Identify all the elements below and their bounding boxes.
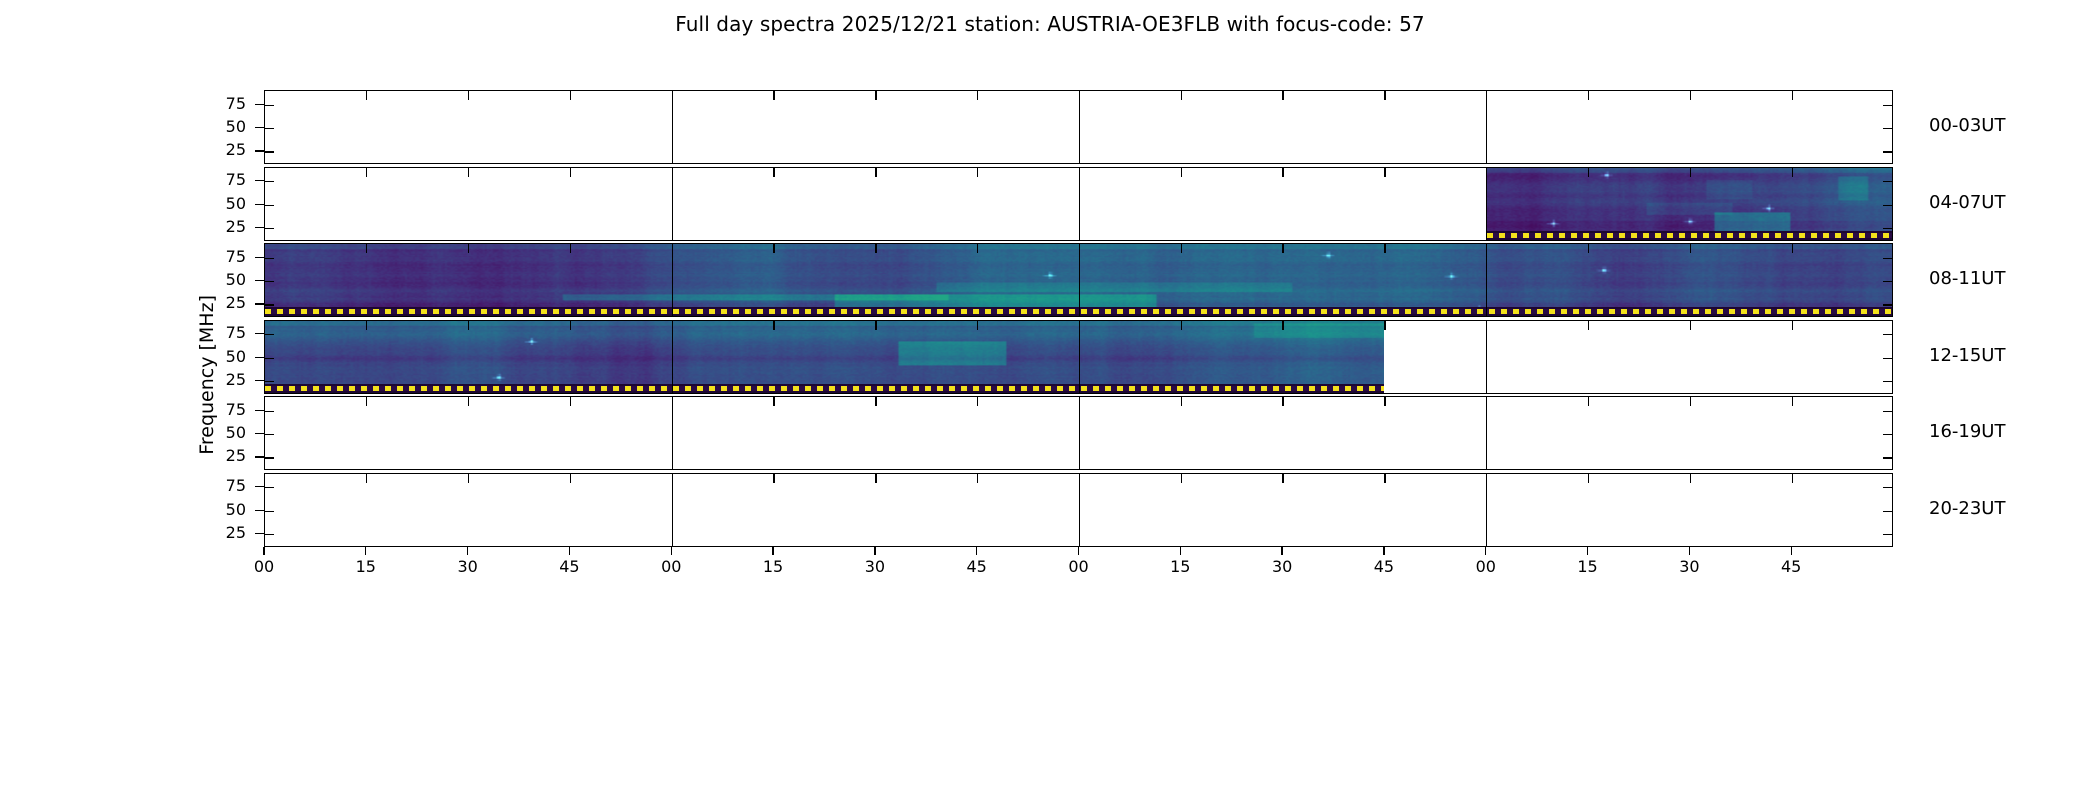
hour-gridline	[1486, 91, 1487, 163]
x-tick-bottom	[1384, 321, 1385, 330]
x-tick-mark	[467, 547, 468, 555]
x-tick-bottom	[1181, 474, 1182, 483]
y-tick-mark	[255, 533, 264, 534]
x-tick-bottom	[366, 474, 367, 483]
marker-band	[1487, 231, 1893, 240]
y-tick-left	[265, 151, 274, 152]
x-tick-label: 15	[1160, 557, 1200, 576]
x-tick-bottom	[366, 244, 367, 253]
y-tick-label: 75	[202, 323, 246, 342]
y-tick-label: 25	[202, 140, 246, 159]
hour-gridline	[1079, 244, 1080, 316]
x-tick-bottom	[1181, 168, 1182, 177]
x-tick-bottom	[1384, 244, 1385, 253]
hour-gridline	[672, 91, 673, 163]
x-tick-bottom	[977, 321, 978, 330]
hour-gridline	[672, 474, 673, 546]
x-tick-bottom	[1792, 321, 1793, 330]
x-tick-bottom	[1282, 321, 1283, 330]
x-tick-label: 00	[651, 557, 691, 576]
spectrogram-panel-16-19ut[interactable]	[264, 396, 1893, 470]
x-tick-bottom	[1690, 397, 1691, 406]
x-tick-bottom	[1588, 168, 1589, 177]
x-tick-bottom	[1690, 244, 1691, 253]
x-tick-bottom	[977, 397, 978, 406]
y-tick-mark	[255, 127, 264, 128]
y-tick-left	[265, 334, 274, 335]
x-tick-label: 45	[549, 557, 589, 576]
x-tick-bottom	[366, 397, 367, 406]
x-tick-mark	[263, 547, 264, 555]
x-tick-bottom	[1792, 397, 1793, 406]
x-tick-label: 30	[1669, 557, 1709, 576]
y-tick-right	[1883, 181, 1892, 182]
y-tick-label: 50	[202, 194, 246, 213]
y-tick-mark	[255, 257, 264, 258]
x-tick-bottom	[468, 397, 469, 406]
y-tick-left	[265, 228, 274, 229]
x-tick-bottom	[1792, 91, 1793, 100]
hour-gridline	[1486, 168, 1487, 240]
y-tick-label: 50	[202, 423, 246, 442]
x-tick-bottom	[468, 474, 469, 483]
y-tick-left	[265, 181, 274, 182]
y-tick-left	[265, 258, 274, 259]
x-tick-bottom	[1690, 474, 1691, 483]
x-tick-bottom	[366, 168, 367, 177]
y-tick-right	[1883, 511, 1892, 512]
x-tick-label: 15	[753, 557, 793, 576]
x-tick-bottom	[570, 397, 571, 406]
y-tick-mark	[255, 204, 264, 205]
x-tick-bottom	[875, 474, 876, 483]
y-tick-mark	[255, 333, 264, 334]
x-tick-bottom	[366, 91, 367, 100]
y-tick-left	[265, 381, 274, 382]
y-tick-right	[1883, 205, 1892, 206]
y-tick-mark	[255, 380, 264, 381]
x-tick-bottom	[1181, 244, 1182, 253]
y-tick-right	[1883, 457, 1892, 458]
x-tick-label: 45	[1364, 557, 1404, 576]
y-tick-label: 50	[202, 117, 246, 136]
y-tick-left	[265, 457, 274, 458]
y-tick-label: 75	[202, 94, 246, 113]
x-tick-mark	[874, 547, 875, 555]
y-tick-left	[265, 534, 274, 535]
y-tick-mark	[255, 180, 264, 181]
x-tick-bottom	[773, 168, 774, 177]
x-tick-bottom	[773, 397, 774, 406]
y-tick-left	[265, 487, 274, 488]
hour-gridline	[1079, 397, 1080, 469]
y-tick-label: 75	[202, 170, 246, 189]
x-tick-bottom	[1181, 91, 1182, 100]
x-tick-bottom	[1792, 168, 1793, 177]
x-tick-label: 00	[1059, 557, 1099, 576]
y-tick-label: 75	[202, 476, 246, 495]
y-tick-right	[1883, 534, 1892, 535]
x-tick-bottom	[1282, 244, 1283, 253]
y-tick-label: 25	[202, 217, 246, 236]
row-label-00-03ut: 00-03UT	[1929, 115, 2005, 136]
x-tick-label: 30	[855, 557, 895, 576]
hour-gridline	[1486, 244, 1487, 316]
x-tick-bottom	[1282, 168, 1283, 177]
y-tick-left	[265, 358, 274, 359]
y-tick-mark	[255, 410, 264, 411]
y-tick-right	[1883, 258, 1892, 259]
x-tick-bottom	[875, 91, 876, 100]
x-tick-bottom	[773, 321, 774, 330]
x-tick-label: 15	[346, 557, 386, 576]
x-tick-bottom	[468, 244, 469, 253]
figure-canvas: Full day spectra 2025/12/21 station: AUS…	[0, 0, 2100, 800]
x-tick-bottom	[570, 168, 571, 177]
y-tick-left	[265, 411, 274, 412]
hour-gridline	[1486, 321, 1487, 393]
y-tick-left	[265, 205, 274, 206]
hour-gridline	[1486, 397, 1487, 469]
x-tick-bottom	[773, 474, 774, 483]
x-tick-bottom	[1690, 321, 1691, 330]
x-tick-bottom	[1690, 91, 1691, 100]
y-tick-left	[265, 304, 274, 305]
y-tick-right	[1883, 228, 1892, 229]
spectrogram-data	[1487, 168, 1893, 240]
row-label-12-15ut: 12-15UT	[1929, 345, 2005, 366]
spectrogram-panel-04-07ut[interactable]	[264, 167, 1893, 241]
x-tick-mark	[1180, 547, 1181, 555]
y-tick-mark	[255, 150, 264, 151]
y-tick-label: 75	[202, 247, 246, 266]
y-tick-left	[265, 105, 274, 106]
y-tick-mark	[255, 433, 264, 434]
hour-gridline	[1486, 474, 1487, 546]
x-tick-mark	[1689, 547, 1690, 555]
x-tick-mark	[976, 547, 977, 555]
y-tick-mark	[255, 486, 264, 487]
y-tick-mark	[255, 104, 264, 105]
x-tick-bottom	[468, 168, 469, 177]
x-tick-label: 15	[1568, 557, 1608, 576]
x-tick-bottom	[773, 91, 774, 100]
x-tick-bottom	[1384, 168, 1385, 177]
y-tick-label: 50	[202, 347, 246, 366]
row-label-08-11ut: 08-11UT	[1929, 268, 2005, 289]
hour-gridline	[1079, 168, 1080, 240]
x-tick-bottom	[1588, 474, 1589, 483]
y-tick-label: 25	[202, 523, 246, 542]
x-tick-bottom	[1384, 397, 1385, 406]
x-tick-mark	[1281, 547, 1282, 555]
y-tick-label: 50	[202, 500, 246, 519]
x-tick-label: 45	[1771, 557, 1811, 576]
spectrogram-canvas	[1487, 168, 1893, 240]
y-tick-mark	[255, 456, 264, 457]
y-tick-right	[1883, 381, 1892, 382]
x-tick-label: 45	[957, 557, 997, 576]
y-tick-right	[1883, 128, 1892, 129]
x-tick-bottom	[366, 321, 367, 330]
x-tick-bottom	[1690, 168, 1691, 177]
spectrogram-panel-20-23ut[interactable]	[264, 473, 1893, 547]
y-tick-mark	[255, 357, 264, 358]
x-tick-bottom	[1282, 397, 1283, 406]
x-tick-mark	[569, 547, 570, 555]
x-tick-bottom	[570, 91, 571, 100]
x-tick-bottom	[977, 474, 978, 483]
y-tick-left	[265, 511, 274, 512]
y-tick-left	[265, 281, 274, 282]
y-tick-label: 25	[202, 446, 246, 465]
y-tick-left	[265, 128, 274, 129]
x-tick-bottom	[1282, 91, 1283, 100]
y-tick-right	[1883, 334, 1892, 335]
hour-gridline	[672, 397, 673, 469]
x-tick-bottom	[977, 91, 978, 100]
x-tick-bottom	[1792, 244, 1793, 253]
y-tick-label: 25	[202, 293, 246, 312]
y-tick-label: 25	[202, 370, 246, 389]
x-tick-bottom	[875, 168, 876, 177]
y-tick-mark	[255, 303, 264, 304]
hour-gridline	[672, 168, 673, 240]
x-tick-bottom	[977, 168, 978, 177]
y-tick-mark	[255, 510, 264, 511]
x-tick-bottom	[570, 474, 571, 483]
x-tick-bottom	[468, 321, 469, 330]
x-tick-mark	[1791, 547, 1792, 555]
spectrogram-panel-08-11ut[interactable]	[264, 243, 1893, 317]
y-tick-right	[1883, 304, 1892, 305]
x-tick-bottom	[1282, 474, 1283, 483]
x-tick-mark	[1383, 547, 1384, 555]
marker-band	[265, 384, 1384, 393]
x-tick-mark	[772, 547, 773, 555]
y-tick-right	[1883, 151, 1892, 152]
x-tick-mark	[1587, 547, 1588, 555]
hour-gridline	[672, 321, 673, 393]
x-tick-bottom	[1588, 91, 1589, 100]
spectrogram-canvas	[265, 321, 1384, 393]
x-tick-label: 30	[1262, 557, 1302, 576]
x-tick-label: 30	[448, 557, 488, 576]
x-tick-bottom	[1181, 397, 1182, 406]
x-tick-label: 00	[1466, 557, 1506, 576]
x-tick-bottom	[875, 397, 876, 406]
x-tick-bottom	[875, 321, 876, 330]
hour-gridline	[672, 244, 673, 316]
x-tick-bottom	[977, 244, 978, 253]
x-tick-bottom	[468, 91, 469, 100]
x-tick-bottom	[1588, 321, 1589, 330]
x-tick-bottom	[1384, 474, 1385, 483]
x-tick-bottom	[1588, 397, 1589, 406]
y-tick-right	[1883, 434, 1892, 435]
hour-gridline	[1079, 474, 1080, 546]
x-tick-bottom	[1384, 91, 1385, 100]
y-tick-mark	[255, 227, 264, 228]
y-tick-right	[1883, 105, 1892, 106]
row-label-04-07ut: 04-07UT	[1929, 192, 2005, 213]
x-tick-bottom	[570, 321, 571, 330]
y-tick-right	[1883, 281, 1892, 282]
spectrogram-panel-00-03ut[interactable]	[264, 90, 1893, 164]
y-tick-mark	[255, 280, 264, 281]
hour-gridline	[1079, 91, 1080, 163]
y-tick-label: 75	[202, 400, 246, 419]
y-tick-left	[265, 434, 274, 435]
x-tick-bottom	[1588, 244, 1589, 253]
x-tick-mark	[365, 547, 366, 555]
row-label-20-23ut: 20-23UT	[1929, 498, 2005, 519]
x-tick-bottom	[875, 244, 876, 253]
x-tick-bottom	[1181, 321, 1182, 330]
figure-title: Full day spectra 2025/12/21 station: AUS…	[0, 12, 2100, 36]
y-tick-right	[1883, 411, 1892, 412]
spectrogram-data	[265, 321, 1384, 393]
x-tick-mark	[1078, 547, 1079, 555]
x-tick-label: 00	[244, 557, 284, 576]
y-tick-right	[1883, 358, 1892, 359]
x-tick-mark	[1485, 547, 1486, 555]
y-tick-right	[1883, 487, 1892, 488]
row-label-16-19ut: 16-19UT	[1929, 421, 2005, 442]
x-tick-bottom	[1792, 474, 1793, 483]
x-tick-bottom	[773, 244, 774, 253]
spectrogram-panel-12-15ut[interactable]	[264, 320, 1893, 394]
x-tick-mark	[671, 547, 672, 555]
y-tick-label: 50	[202, 270, 246, 289]
hour-gridline	[1079, 321, 1080, 393]
x-tick-bottom	[570, 244, 571, 253]
